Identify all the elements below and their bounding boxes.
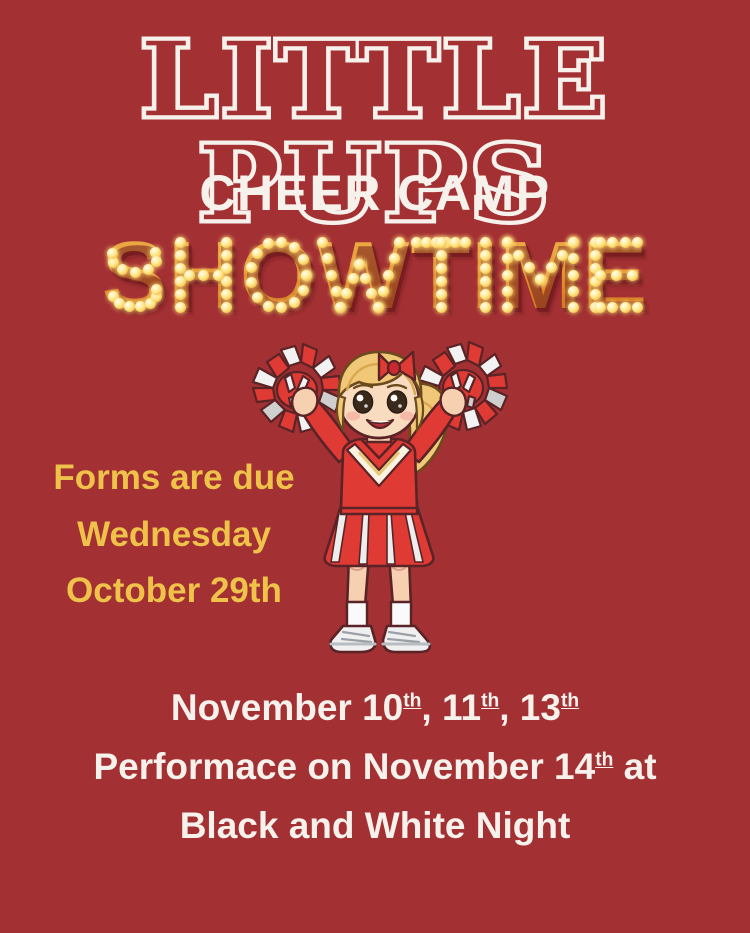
hand-left [292, 388, 317, 416]
forms-due-notice: Forms are due Wednesday October 29th [24, 450, 324, 620]
forms-due-line-1: Forms are due [24, 450, 324, 507]
marquee-word: SHOWTIME [102, 228, 649, 324]
forms-due-line-2: Wednesday [24, 507, 324, 564]
poster-subtitle: CHEER CAMP [0, 168, 750, 218]
schedule-dates-prefix: November 10 [171, 687, 403, 728]
eye-right [388, 391, 407, 413]
schedule-line-performance: Performace on November 14th at [0, 737, 750, 796]
forms-due-line-3: October 29th [24, 563, 324, 620]
schedule-dates-mid-1: , 11 [421, 687, 481, 728]
schedule-sup-2: th [481, 691, 499, 712]
shoe-left [330, 626, 375, 652]
schedule-line-dates: November 10th, 11th, 13th [0, 678, 750, 737]
marquee-word-wrap: SHOWTIME [0, 228, 750, 324]
flyer-poster: LITTLE PUPS LITTLE PUPS CHEER CAMP SHOWT… [0, 0, 750, 933]
sock-left [347, 602, 367, 628]
schedule-line-venue: Black and White Night [0, 796, 750, 855]
performance-prefix: Performace on November 14 [93, 746, 595, 787]
schedule-dates-mid-2: , 13 [499, 687, 561, 728]
schedule-sup-1: th [403, 691, 421, 712]
schedule-block: November 10th, 11th, 13th Performace on … [0, 678, 750, 856]
sock-right [391, 602, 411, 628]
performance-suffix: at [613, 746, 656, 787]
hand-right [441, 388, 466, 416]
schedule-sup-3: th [561, 691, 579, 712]
performance-sup: th [595, 750, 613, 771]
eye-left [354, 391, 373, 413]
